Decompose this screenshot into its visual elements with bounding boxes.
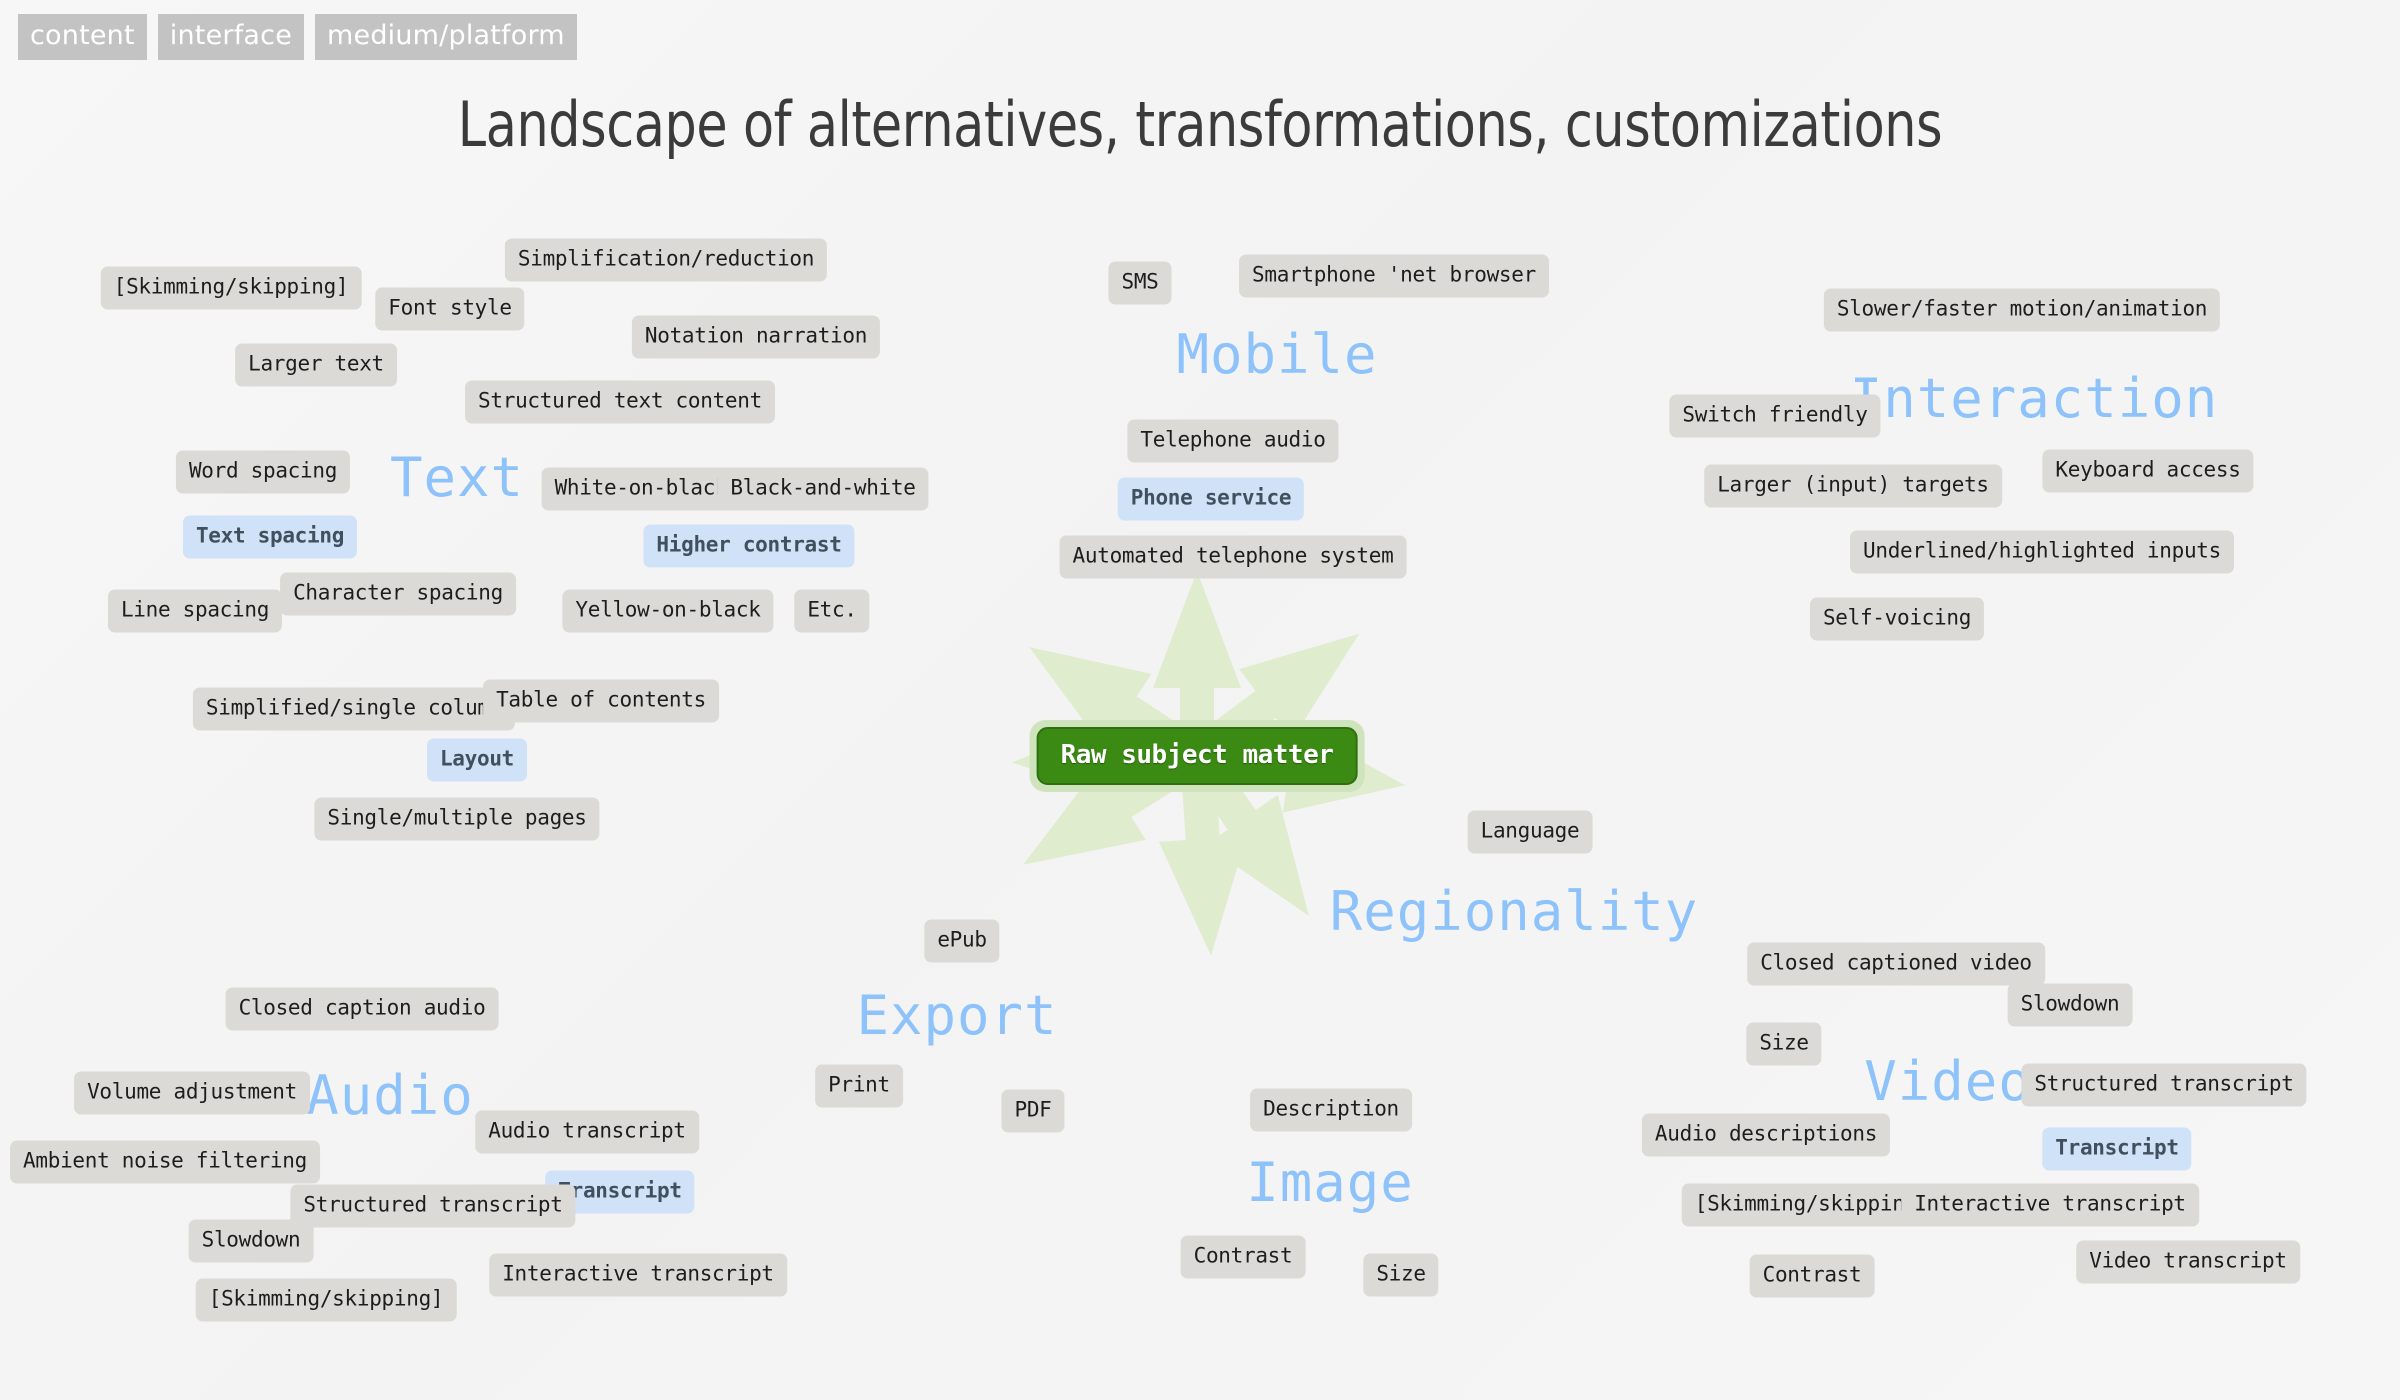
cluster-title-regionality: Regionality <box>1330 885 1699 939</box>
chip-print[interactable]: Print <box>815 1065 903 1108</box>
chip-audio-descriptions[interactable]: Audio descriptions <box>1642 1114 1890 1157</box>
cluster-title-interaction: Interaction <box>1850 372 2219 426</box>
chip-closed-captioned-video[interactable]: Closed captioned video <box>1747 943 2045 986</box>
chip-switch-friendly[interactable]: Switch friendly <box>1669 395 1880 438</box>
cluster-title-text: Text <box>390 451 524 505</box>
chip-skimming-skipping[interactable]: [Skimming/skipping] <box>196 1279 457 1322</box>
chip-structured-transcript[interactable]: Structured transcript <box>290 1185 575 1228</box>
chip-interactive-transcript[interactable]: Interactive transcript <box>1901 1184 2199 1227</box>
tag-content[interactable]: content <box>18 14 147 60</box>
chip-word-spacing[interactable]: Word spacing <box>176 451 350 494</box>
chip-size[interactable]: Size <box>1746 1023 1821 1066</box>
chip-transcript[interactable]: Transcript <box>2042 1128 2191 1171</box>
chip-structured-text-content[interactable]: Structured text content <box>465 381 775 424</box>
chip-phone-service[interactable]: Phone service <box>1118 478 1304 521</box>
tag-interface[interactable]: interface <box>158 14 304 60</box>
chip-skimming-skipping[interactable]: [Skimming/skipping] <box>101 267 362 310</box>
chip-underlined-highlighted-inputs[interactable]: Underlined/highlighted inputs <box>1850 531 2234 574</box>
chip-etc[interactable]: Etc. <box>794 590 869 633</box>
chip-simplified-single-column[interactable]: Simplified/single column <box>193 688 515 731</box>
chip-layout[interactable]: Layout <box>427 739 527 782</box>
chip-table-of-contents[interactable]: Table of contents <box>483 680 719 723</box>
chip-slowdown[interactable]: Slowdown <box>189 1220 314 1263</box>
chip-structured-transcript[interactable]: Structured transcript <box>2021 1064 2306 1107</box>
chip-closed-caption-audio[interactable]: Closed caption audio <box>226 988 499 1031</box>
cluster-title-audio: Audio <box>306 1069 474 1123</box>
cluster-title-mobile: Mobile <box>1176 328 1377 382</box>
chip-larger-text[interactable]: Larger text <box>235 344 397 387</box>
chip-size[interactable]: Size <box>1363 1254 1438 1297</box>
chip-higher-contrast[interactable]: Higher contrast <box>643 525 854 568</box>
chip-audio-transcript[interactable]: Audio transcript <box>475 1111 699 1154</box>
chip-white-on-black[interactable]: White-on-black <box>542 468 741 511</box>
chip-simplification-reduction[interactable]: Simplification/reduction <box>505 239 827 282</box>
chip-language[interactable]: Language <box>1468 811 1593 854</box>
center-node[interactable]: Raw subject matter <box>1030 720 1365 792</box>
chip-black-and-white[interactable]: Black-and-white <box>717 468 928 511</box>
cluster-title-video: Video <box>1864 1055 2032 1109</box>
chip-larger-input-targets[interactable]: Larger (input) targets <box>1704 465 2002 508</box>
chip-contrast[interactable]: Contrast <box>1181 1236 1306 1279</box>
chip-notation-narration[interactable]: Notation narration <box>632 316 880 359</box>
chip-line-spacing[interactable]: Line spacing <box>108 590 282 633</box>
chip-pdf[interactable]: PDF <box>1001 1090 1064 1133</box>
center-node-label: Raw subject matter <box>1037 727 1358 785</box>
cluster-title-image: Image <box>1246 1156 1414 1210</box>
chip-description[interactable]: Description <box>1250 1089 1412 1132</box>
cluster-title-export: Export <box>856 989 1057 1043</box>
chip-ambient-noise-filtering[interactable]: Ambient noise filtering <box>10 1141 320 1184</box>
chip-telephone-audio[interactable]: Telephone audio <box>1127 420 1338 463</box>
chip-text-spacing[interactable]: Text spacing <box>183 516 357 559</box>
chip-character-spacing[interactable]: Character spacing <box>280 573 516 616</box>
chip-keyboard-access[interactable]: Keyboard access <box>2042 450 2253 493</box>
tag-bar: contentinterfacemedium/platform <box>18 14 577 60</box>
chip-single-multiple-pages[interactable]: Single/multiple pages <box>314 798 599 841</box>
chip-sms[interactable]: SMS <box>1108 262 1171 305</box>
chip-epub[interactable]: ePub <box>924 920 999 963</box>
chip-yellow-on-black[interactable]: Yellow-on-black <box>562 590 773 633</box>
chip-font-style[interactable]: Font style <box>375 288 524 331</box>
chip-video-transcript[interactable]: Video transcript <box>2076 1241 2300 1284</box>
chip-contrast[interactable]: Contrast <box>1750 1255 1875 1298</box>
chip-slowdown[interactable]: Slowdown <box>2008 984 2133 1027</box>
mindmap-canvas: TextMobileInteractionRegionalityExportAu… <box>0 0 2400 1400</box>
chip-interactive-transcript[interactable]: Interactive transcript <box>489 1254 787 1297</box>
tag-medium-platform[interactable]: medium/platform <box>315 14 577 60</box>
chip-smartphone-net-browser[interactable]: Smartphone 'net browser <box>1239 255 1549 298</box>
chip-automated-telephone-system[interactable]: Automated telephone system <box>1060 536 1407 579</box>
chip-slower-faster-motion-animation[interactable]: Slower/faster motion/animation <box>1824 289 2220 332</box>
chip-volume-adjustment[interactable]: Volume adjustment <box>74 1072 310 1115</box>
chip-self-voicing[interactable]: Self-voicing <box>1810 598 1984 641</box>
